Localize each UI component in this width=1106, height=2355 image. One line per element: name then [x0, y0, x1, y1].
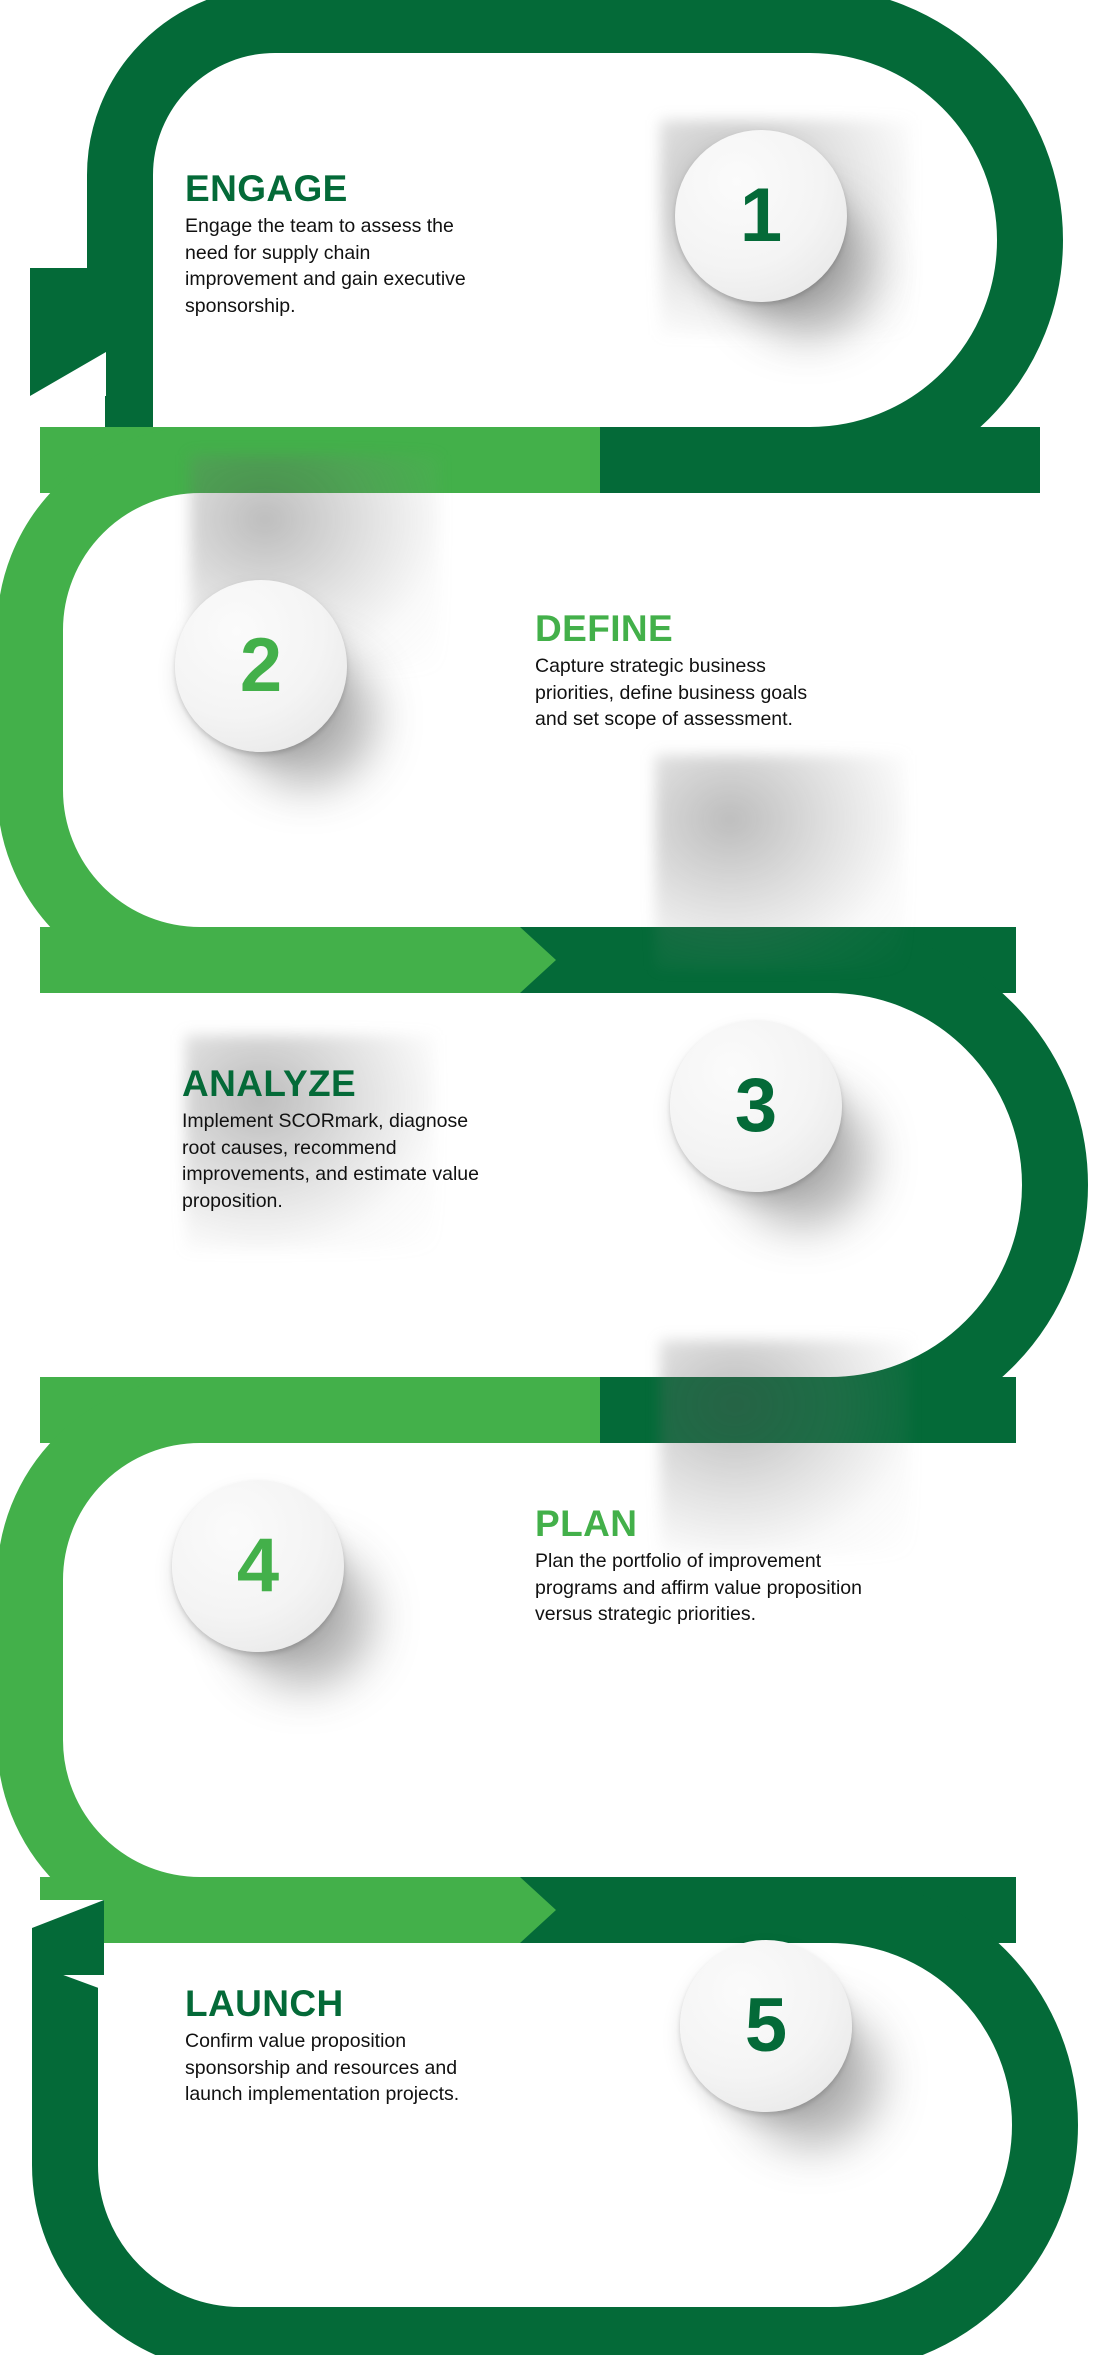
ribbon-segment-4 — [30, 1410, 600, 1910]
step-2-description: Capture strategic business priorities, d… — [535, 653, 840, 733]
step-5-description: Confirm value proposition sponsorship an… — [185, 2028, 460, 2108]
step-4-text-block: PLAN Plan the portfolio of improvement p… — [535, 1505, 870, 1628]
step-4-number-circle[interactable]: 4 — [172, 1480, 344, 1652]
step-1-title: ENGAGE — [185, 170, 480, 207]
step-3-number: 3 — [735, 1068, 777, 1144]
step-1-number-circle[interactable]: 1 — [675, 130, 847, 302]
step-3-number-circle[interactable]: 3 — [670, 1020, 842, 1192]
step-5-number-circle[interactable]: 5 — [680, 1940, 852, 2112]
step-2-title: DEFINE — [535, 610, 840, 647]
step-2-text-block: DEFINE Capture strategic business priori… — [535, 610, 840, 733]
step-3-text-block: ANALYZE Implement SCORmark, diagnose roo… — [182, 1065, 482, 1215]
step-5-text-block: LAUNCH Confirm value proposition sponsor… — [185, 1985, 460, 2108]
process-flow-infographic: ENGAGE Engage the team to assess the nee… — [0, 0, 1106, 2355]
step-3-description: Implement SCORmark, diagnose root causes… — [182, 1108, 482, 1215]
ribbon-segment-1 — [30, 20, 1030, 460]
step-1-description: Engage the team to assess the need for s… — [185, 213, 480, 320]
ribbon-path — [0, 0, 1106, 2355]
step-4-number: 4 — [237, 1528, 279, 1604]
step-1-text-block: ENGAGE Engage the team to assess the nee… — [185, 170, 480, 320]
step-2-number-circle[interactable]: 2 — [175, 580, 347, 752]
step-4-title: PLAN — [535, 1505, 870, 1542]
step-4-description: Plan the portfolio of improvement progra… — [535, 1548, 870, 1628]
ribbon-segment-5 — [28, 1900, 1045, 2340]
step-3-title: ANALYZE — [182, 1065, 482, 1102]
step-1-number: 1 — [740, 178, 782, 254]
step-5-title: LAUNCH — [185, 1985, 460, 2022]
step-2-number: 2 — [240, 628, 282, 704]
step-5-number: 5 — [745, 1988, 787, 2064]
